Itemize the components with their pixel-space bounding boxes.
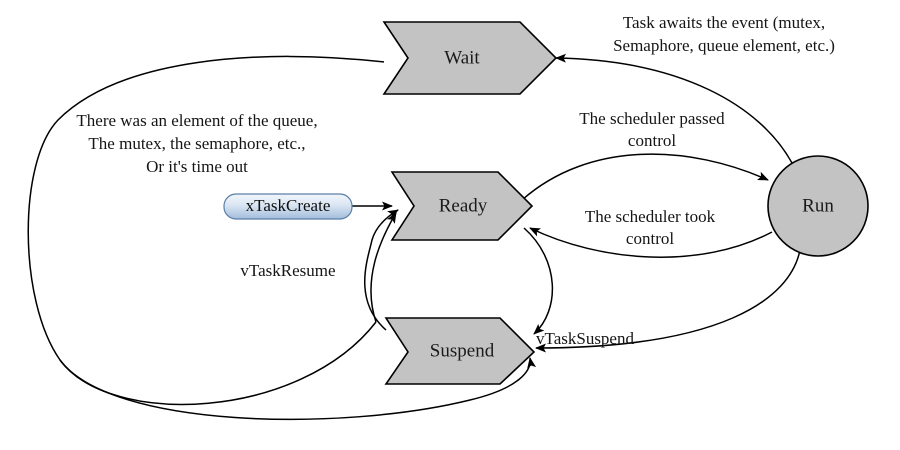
edge-ready-to-run	[522, 154, 768, 200]
edge-wait-to-ready-loop	[28, 56, 384, 404]
edge-ready-to-suspend	[524, 228, 552, 334]
wait-label: Wait	[444, 47, 480, 68]
state-node-ready[interactable]: Ready	[392, 172, 532, 240]
api-box-xtaskcreate[interactable]: xTaskCreate	[224, 194, 352, 219]
label-vtaskresume: vTaskResume	[240, 261, 335, 280]
task-state-diagram: Wait Ready Run Suspend xTaskCreate Task …	[0, 0, 900, 450]
wait-to-ready-line1: There was an element of the queue,	[76, 111, 317, 130]
label-run-to-ready: The scheduler took control	[585, 207, 716, 248]
suspend-label: Suspend	[430, 340, 495, 361]
ready-label: Ready	[439, 195, 488, 216]
wait-to-ready-line3: Or it's time out	[146, 157, 248, 176]
run-to-ready-line1: The scheduler took	[585, 207, 716, 226]
state-node-wait[interactable]: Wait	[384, 22, 556, 94]
state-node-run[interactable]: Run	[768, 156, 868, 256]
ready-to-run-line2: control	[628, 131, 676, 150]
state-node-suspend[interactable]: Suspend	[386, 318, 534, 384]
ready-to-run-line1: The scheduler passed	[579, 109, 725, 128]
wait-to-ready-line2: The mutex, the semaphore, etc.,	[88, 134, 305, 153]
run-label: Run	[802, 195, 834, 216]
run-to-wait-line2: Semaphore, queue element, etc.)	[613, 36, 835, 55]
run-to-wait-line1: Task awaits the event (mutex,	[623, 13, 825, 32]
edge-suspend-to-ready	[365, 210, 398, 330]
run-to-ready-line2: control	[626, 229, 674, 248]
label-run-to-wait: Task awaits the event (mutex, Semaphore,…	[613, 13, 835, 55]
state-diagram-canvas: Wait Ready Run Suspend xTaskCreate Task …	[0, 0, 900, 450]
label-ready-to-run: The scheduler passed control	[579, 109, 725, 150]
label-wait-to-ready: There was an element of the queue, The m…	[76, 111, 317, 176]
xtaskcreate-label: xTaskCreate	[246, 196, 331, 215]
label-vtasksuspend: vTaskSuspend	[536, 329, 634, 348]
edge-wait-to-ready-arrow	[371, 213, 396, 322]
